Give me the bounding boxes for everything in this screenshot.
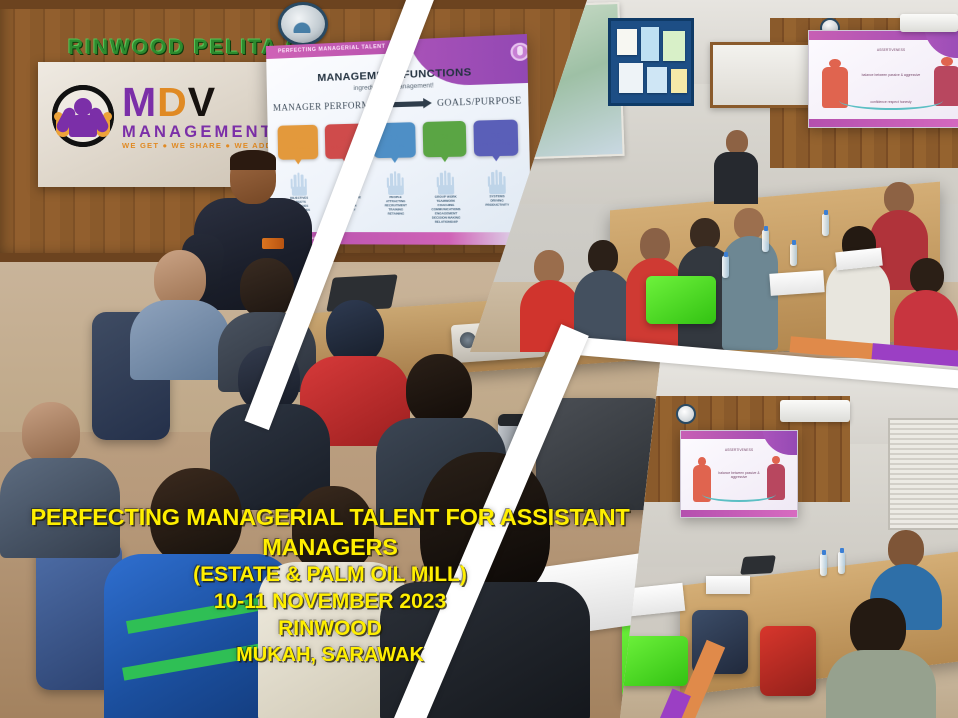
handout <box>706 576 750 594</box>
participant-foreground <box>826 598 936 718</box>
speaker <box>714 130 758 200</box>
whiteboard <box>710 42 816 108</box>
slide-card-leading: 04LEADING <box>423 121 467 157</box>
projection-screen: ASSERTIVENESS balance between passive & … <box>680 430 798 518</box>
hand-icon <box>487 169 506 195</box>
slide-detail-staffing: PEOPLEATTRACTINGRECRUITMENTTRAININGRETAI… <box>374 170 417 224</box>
caption-line-3: 10-11 NOVEMBER 2023 <box>0 589 660 616</box>
water-bottle <box>838 552 845 574</box>
hand-icon <box>436 169 455 194</box>
card-number: 05 <box>491 130 500 140</box>
slide-left-label: MANAGER PERFORMS <box>273 100 376 113</box>
caption-line-1: PERFECTING MANAGERIAL TALENT FOR ASSISTA… <box>0 502 660 562</box>
mdv-tagline: WE GET ● WE SHARE ● WE ADD <box>122 142 274 149</box>
slide-card-controlling: 05CONTROLLING <box>473 119 518 156</box>
window-blinds <box>888 418 958 530</box>
tote-bag-green <box>646 276 716 324</box>
air-conditioner <box>900 14 958 32</box>
caption-line-2: (ESTATE & PALM OIL MILL) <box>0 562 660 589</box>
laptop <box>740 555 776 575</box>
slide-detail-controlling: SYSTEMSDRIVINGPRODUCTIVITY <box>474 168 519 224</box>
mdv-letter-v: V <box>188 79 216 125</box>
participant <box>894 258 958 352</box>
water-bottle <box>762 230 769 252</box>
mdv-word-management: MANAGEMENT <box>122 125 274 140</box>
plastic-chair-red <box>760 626 816 696</box>
slide-right-label: GOALS/PURPOSE <box>437 95 522 108</box>
water-bottle <box>820 554 827 576</box>
lightbulb-icon <box>510 42 529 61</box>
slide-function-details: OBJECTIVESTARGETSSTRATEGIESALTERNATIVESW… <box>278 168 519 224</box>
panel-conference-room-side: ASSERTIVENESS balance between passive & … <box>620 358 958 718</box>
detail-text: GROUP WORKTEAMWORKCOACHINGCOMMUNICATIONS… <box>431 195 461 224</box>
card-number: 03 <box>390 132 399 141</box>
notice-board <box>608 18 694 106</box>
mdv-letter-m: M <box>122 79 157 125</box>
card-number: 04 <box>440 131 449 141</box>
participant <box>826 226 890 352</box>
mdv-letter-d: D <box>157 79 188 125</box>
water-bottle <box>822 214 829 236</box>
mdv-logo: MDV MANAGEMENT WE GET ● WE SHARE ● WE AD… <box>52 84 274 149</box>
wall-clock-icon <box>676 404 696 424</box>
card-number: 01 <box>293 135 302 144</box>
air-conditioner <box>780 400 850 422</box>
card-label: CONTROLLING <box>478 140 515 146</box>
hand-icon <box>386 170 404 195</box>
card-number: 02 <box>341 134 350 143</box>
slide-detail-leading: GROUP WORKTEAMWORKCOACHINGCOMMUNICATIONS… <box>424 169 468 224</box>
projection-screen: ASSERTIVENESS balance between passive & … <box>808 30 958 128</box>
detail-text: PEOPLEATTRACTINGRECRUITMENTTRAININGRETAI… <box>384 196 407 216</box>
caption-line-5: MUKAH, SARAWAK <box>0 643 660 669</box>
photo-collage: RINWOOD PELITA (M MDV MANAGEMENT WE GET … <box>0 0 958 718</box>
water-bottle <box>722 256 729 278</box>
caption-line-4: RINWOOD <box>0 616 660 643</box>
card-label: LEADING <box>434 142 456 148</box>
mdv-people-icon <box>52 85 114 147</box>
company-crest-icon <box>278 2 328 46</box>
event-caption: PERFECTING MANAGERIAL TALENT FOR ASSISTA… <box>0 502 660 668</box>
card-label: STAFFING <box>383 143 407 149</box>
water-bottle <box>790 244 797 266</box>
handout <box>769 270 824 296</box>
detail-text: SYSTEMSDRIVINGPRODUCTIVITY <box>485 195 509 208</box>
